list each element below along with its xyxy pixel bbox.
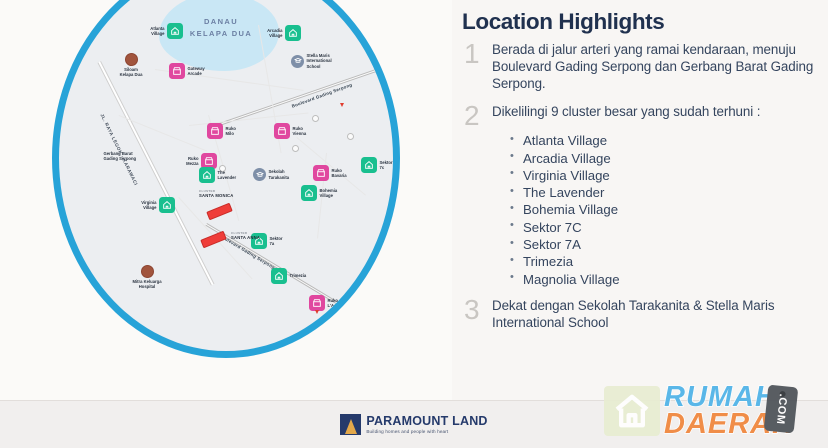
poi-label: Siloam Kelapa Dua: [119, 66, 143, 78]
poi-bohemia-village[interactable]: Bohemia Village: [301, 185, 341, 201]
hospital-icon: [141, 265, 154, 278]
poi-label-line1: Sekolah: [269, 169, 285, 174]
poi-virginia-village[interactable]: Virginia Village: [135, 197, 175, 213]
poi-label-line2: Village: [151, 31, 164, 36]
poi-label-line2: Village: [269, 33, 282, 38]
poi-label: Stella Maris International School: [304, 53, 338, 69]
poi-label-line2: Vienna: [293, 131, 307, 136]
list-item: The Lavender: [508, 184, 816, 201]
poi-label-line1: Stella Maris: [307, 53, 330, 58]
poi-label-line2: Village: [320, 193, 333, 198]
map-pin-icon: [340, 103, 344, 107]
shop-icon: [313, 165, 329, 181]
road-junction-4: [347, 133, 354, 140]
poi-gateway-arcade[interactable]: Gateway Arcade: [169, 63, 209, 79]
poi-sekolah-tarakanita[interactable]: Sekolah Tarakanita: [253, 168, 296, 181]
poi-arcadia-village[interactable]: Arcadia Village: [261, 25, 301, 41]
poi-label: Atlanta Village: [143, 26, 167, 37]
poi-label-line1: Virginia: [141, 200, 156, 205]
home-icon: [167, 23, 183, 39]
poi-mitra-keluarga-hospital[interactable]: Mitra Keluarga Hospital: [127, 265, 167, 290]
poi-label: Ruko Vienna: [290, 126, 314, 137]
poi-label-line1: Bohemia: [320, 188, 338, 193]
poi-label-line2: Lavender: [218, 175, 237, 180]
home-icon: [159, 197, 175, 213]
poi-label-line2: L'Agricola: [328, 303, 348, 308]
poi-label-line2: Milo: [226, 131, 234, 136]
poi-label: Virginia Village: [135, 200, 159, 211]
list-item: Sektor 7A: [508, 236, 816, 253]
road-junction-2: [292, 145, 299, 152]
brand-tagline: Building homes and people with heart: [366, 429, 487, 434]
poi-ruko-vienna[interactable]: Ruko Vienna: [274, 123, 314, 139]
poi-label-line1: The: [218, 170, 225, 175]
highlight-text: Berada di jalur arteri yang ramai kendar…: [492, 41, 816, 92]
poi-label-line1: Ruko: [188, 156, 198, 161]
poi-label-line2: 7a: [270, 241, 275, 246]
poi-label-line1: Mitra Keluarga: [132, 279, 161, 284]
shop-icon: [309, 295, 325, 311]
map-pin-icon: [315, 310, 319, 314]
home-icon: [361, 157, 377, 173]
paramount-land-logo: PARAMOUNT LAND Building homes and people…: [340, 414, 487, 435]
poi-label: Gerbang Barat Gading Serpong: [101, 151, 145, 162]
poi-the-lavender[interactable]: The Lavender: [199, 167, 239, 183]
hospital-icon: [125, 53, 138, 66]
poi-ruko-lagricola[interactable]: Ruko L'Agricola: [309, 295, 355, 311]
map-circle-frame: DANAU KELAPA DUA JL. RAYA LEGOK - KARAWA…: [52, 0, 400, 358]
list-item: Magnolia Village: [508, 271, 816, 288]
road-legok-karawaci: [97, 61, 214, 286]
poi-label-line1: Gerbang Barat: [104, 151, 133, 156]
poi-label-line1: Siloam: [124, 67, 138, 72]
school-icon: [291, 55, 304, 68]
triangle-shape: [345, 419, 357, 434]
cluster-list: Atlanta Village Arcadia Village Virginia…: [508, 132, 816, 288]
poi-label-line1: Magnolia: [320, 320, 338, 325]
poi-trimezia[interactable]: Trimezia: [271, 268, 309, 284]
highlight-text: Dikelilingi 9 cluster besar yang sudah t…: [492, 103, 816, 130]
poi-label: Arcadia Village: [261, 28, 285, 39]
poi-label: The Lavender: [215, 170, 239, 181]
poi-magnolia-village[interactable]: Magnolia Village: [317, 317, 357, 333]
poi-label: Magnolia Village: [317, 320, 341, 331]
poi-label-line2: Arcade: [188, 71, 202, 76]
highlight-text: Dekat dengan Sekolah Tarakanita & Stella…: [492, 297, 816, 331]
poi-stella-maris[interactable]: Stella Maris International School: [291, 53, 338, 69]
highlight-item-2: 2 Dikelilingi 9 cluster besar yang sudah…: [462, 103, 816, 130]
poi-label: Sekolah Tarakanita: [266, 169, 296, 180]
list-item: Arcadia Village: [508, 150, 816, 167]
poi-siloam-hospital[interactable]: Siloam Kelapa Dua: [119, 53, 143, 78]
spacer: [462, 94, 816, 103]
poi-label-line1: Ruko: [293, 126, 303, 131]
highlight-block-santa-monica[interactable]: [206, 203, 233, 221]
poi-label-line2: Bavaria: [332, 173, 347, 178]
poi-label-line2: 7c: [380, 165, 385, 170]
poi-label: Ruko Milo: [223, 126, 247, 137]
school-icon: [253, 168, 266, 181]
highlight-number: 1: [462, 41, 492, 92]
poi-label: Mitra Keluarga Hospital: [127, 278, 167, 290]
poi-label: Sektor 7a: [267, 236, 291, 247]
poi-label-line2: Tarakanita: [269, 175, 290, 180]
highlight-label-santa-monica: CLUSTER SANTA MONICA: [199, 189, 234, 198]
highlight-name: SANTA ANNA: [231, 235, 260, 240]
poi-label-line2: International School: [307, 58, 332, 68]
poi-label-line2: Mezza: [186, 161, 198, 166]
poi-label: Ruko Bavaria: [329, 168, 353, 179]
spacer: [462, 288, 816, 297]
poi-label: Trimezia: [287, 273, 309, 278]
poi-label-line1: Ruko: [226, 126, 236, 131]
poi-gerbang-barat: Gerbang Barat Gading Serpong: [101, 151, 145, 162]
poi-label-line1: Ruko: [332, 168, 342, 173]
highlight-number: 2: [462, 103, 492, 130]
poi-label-line1: Sektor: [380, 160, 393, 165]
shop-icon: [207, 123, 223, 139]
poi-label-line2: Gading Serpong: [104, 156, 137, 161]
highlight-number: 3: [462, 297, 492, 331]
poi-label: Bohemia Village: [317, 188, 341, 199]
road-branch-g: [119, 115, 208, 152]
poi-label-line1: Atlanta: [150, 26, 164, 31]
poi-label-line1: Sektor: [270, 236, 283, 241]
poi-ruko-bavaria[interactable]: Ruko Bavaria: [313, 165, 353, 181]
poi-atlanta-village[interactable]: Atlanta Village: [143, 23, 183, 39]
road-boulevard-top: [219, 61, 400, 126]
map-panel: DANAU KELAPA DUA JL. RAYA LEGOK - KARAWA…: [0, 0, 452, 400]
page-title: Location Highlights: [462, 9, 816, 35]
poi-label: Ruko L'Agricola: [325, 298, 355, 309]
list-item: Virginia Village: [508, 167, 816, 184]
map-canvas: DANAU KELAPA DUA JL. RAYA LEGOK - KARAWA…: [59, 0, 393, 351]
poi-label: Ruko Mezza: [177, 156, 201, 167]
paramount-wordmark: PARAMOUNT LAND Building homes and people…: [366, 415, 487, 433]
poi-label-line2: Village: [325, 325, 338, 330]
highlight-label-santa-anna: CLUSTER SANTA ANNA: [231, 231, 260, 240]
poi-label-line1: Ruko: [328, 298, 338, 303]
highlight-name: SANTA MONICA: [199, 193, 234, 198]
poi-label: Gateway Arcade: [185, 66, 209, 77]
home-icon: [199, 167, 215, 183]
poi-label-line2: Hospital: [139, 284, 156, 289]
poi-label-line1: Arcadia: [267, 28, 282, 33]
lake-label-line1: DANAU: [177, 17, 265, 27]
shop-icon: [169, 63, 185, 79]
poi-label-line2: Kelapa Dua: [120, 72, 143, 77]
home-icon: [341, 317, 357, 333]
highlight-item-3: 3 Dekat dengan Sekolah Tarakanita & Stel…: [462, 297, 816, 331]
list-item: Trimezia: [508, 253, 816, 270]
slide-root: DANAU KELAPA DUA JL. RAYA LEGOK - KARAWA…: [0, 0, 828, 448]
shop-icon: [274, 123, 290, 139]
home-icon: [285, 25, 301, 41]
poi-label-line1: Gateway: [188, 66, 205, 71]
highlight-item-1: 1 Berada di jalur arteri yang ramai kend…: [462, 41, 816, 92]
footer-bar: PARAMOUNT LAND Building homes and people…: [0, 400, 828, 448]
poi-ruko-milo[interactable]: Ruko Milo: [207, 123, 247, 139]
highlights-panel: Location Highlights 1 Berada di jalur ar…: [452, 0, 828, 400]
poi-label: Sektor 7c: [377, 160, 400, 171]
brand-name: PARAMOUNT LAND: [366, 415, 487, 428]
poi-sektor-7c[interactable]: Sektor 7c: [361, 157, 400, 173]
road-junction-1: [312, 115, 319, 122]
poi-label-line2: Village: [143, 205, 156, 210]
list-item: Atlanta Village: [508, 132, 816, 149]
home-icon: [301, 185, 317, 201]
list-item: Sektor 7C: [508, 219, 816, 236]
list-item: Bohemia Village: [508, 201, 816, 218]
home-icon: [271, 268, 287, 284]
paramount-mark-icon: [340, 414, 361, 435]
